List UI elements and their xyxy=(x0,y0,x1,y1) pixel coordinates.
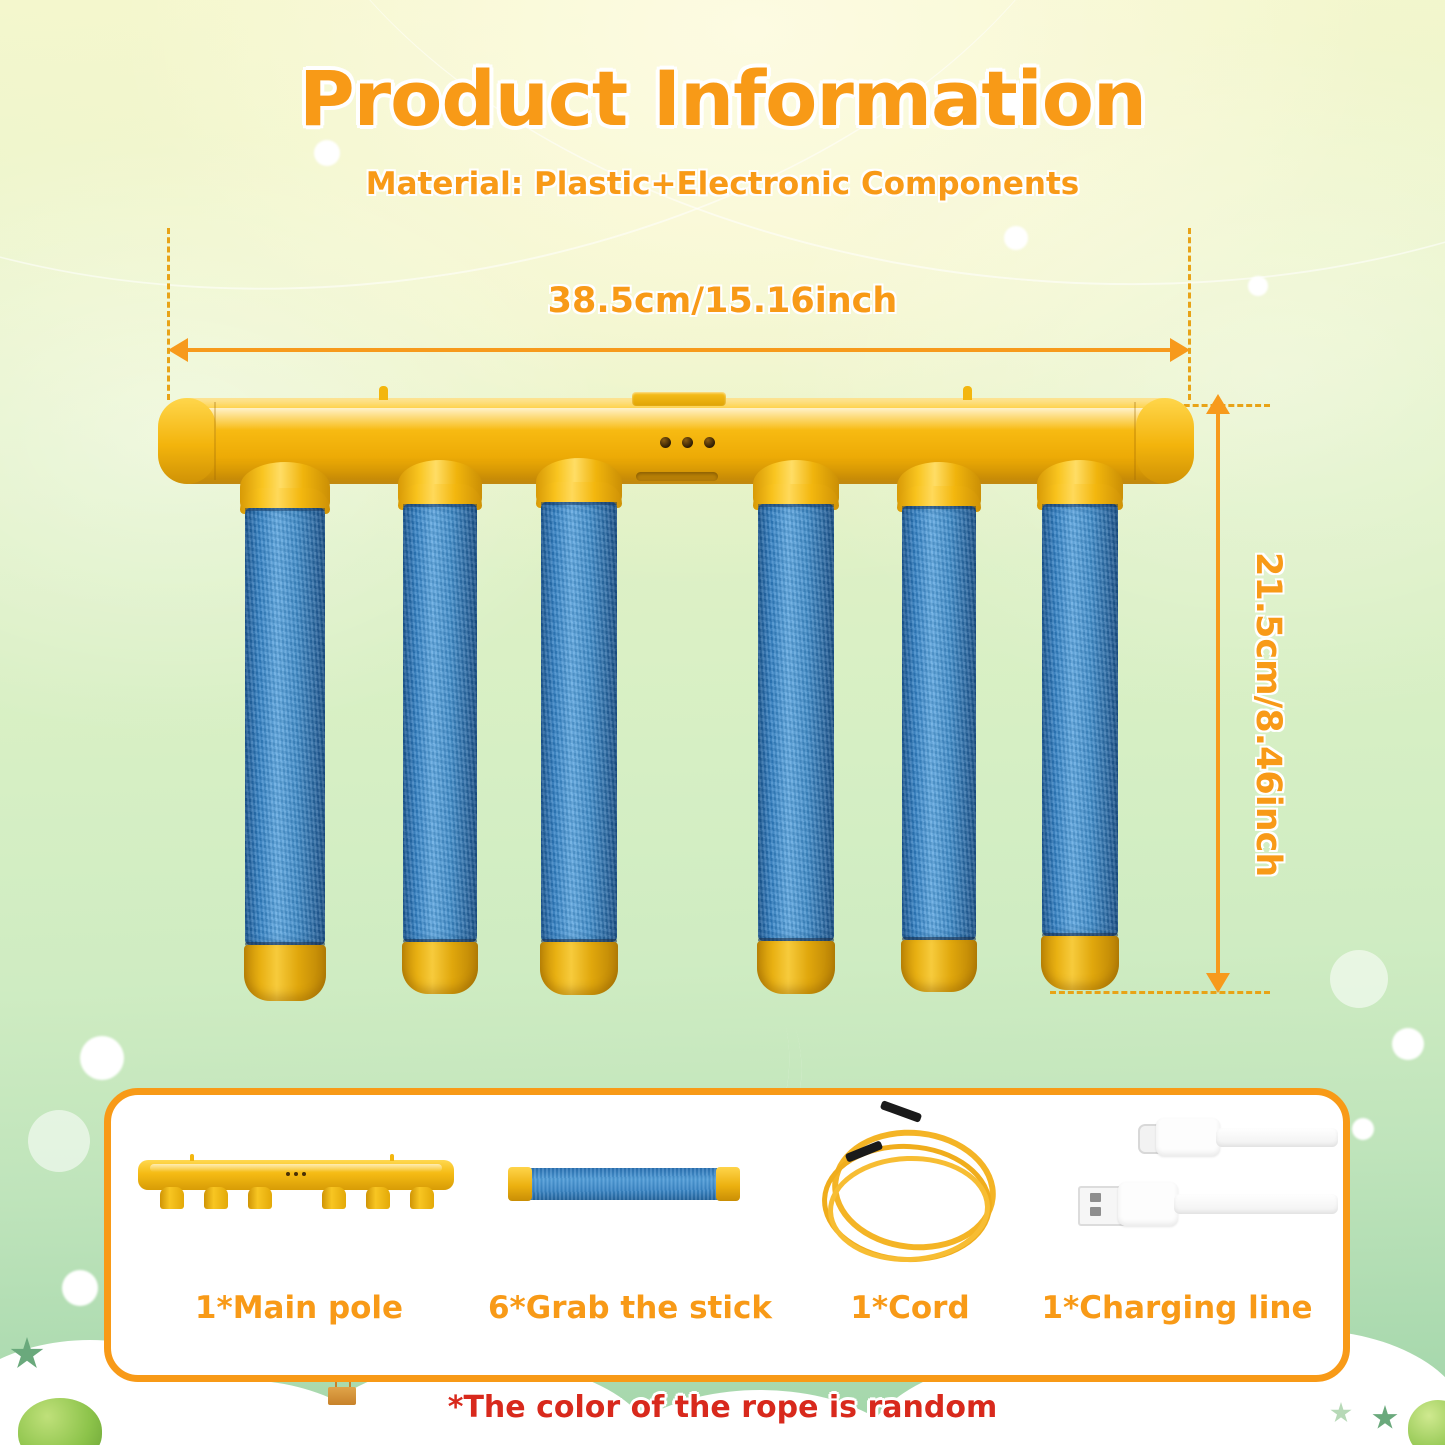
height-arrow-up-icon xyxy=(1206,394,1230,414)
part-label-cord: 1*Cord xyxy=(816,1290,1004,1326)
width-arrow-left-icon xyxy=(168,338,188,362)
bokeh-circle xyxy=(314,140,340,166)
page-subtitle: Material: Plastic+Electronic Components xyxy=(0,166,1445,202)
bokeh-circle xyxy=(80,1036,124,1080)
guide-line-bottom xyxy=(1050,991,1270,994)
part-label-grab-stick: 6*Grab the stick xyxy=(462,1290,798,1326)
width-dimension-label: 38.5cm/15.16inch xyxy=(0,281,1445,321)
bokeh-circle xyxy=(28,1110,90,1172)
infographic-canvas: Product Information Material: Plastic+El… xyxy=(0,0,1445,1445)
bokeh-circle xyxy=(1330,950,1388,1008)
footer-note: *The color of the rope is random xyxy=(0,1390,1445,1425)
part-label-main-pole: 1*Main pole xyxy=(140,1290,458,1326)
height-dimension-line xyxy=(1216,412,1220,982)
height-arrow-down-icon xyxy=(1206,973,1230,993)
bokeh-circle xyxy=(62,1270,98,1306)
width-arrow-right-icon xyxy=(1170,338,1190,362)
width-dimension-line xyxy=(176,348,1181,352)
bokeh-circle xyxy=(1392,1028,1424,1060)
bokeh-circle xyxy=(1352,1118,1374,1140)
page-title: Product Information xyxy=(0,54,1445,143)
guide-line-top xyxy=(1050,404,1270,407)
part-label-charging-line: 1*Charging line xyxy=(1028,1290,1326,1326)
bokeh-circle xyxy=(1004,226,1028,250)
height-dimension-label: 21.5cm/8.46inch xyxy=(1248,552,1288,877)
